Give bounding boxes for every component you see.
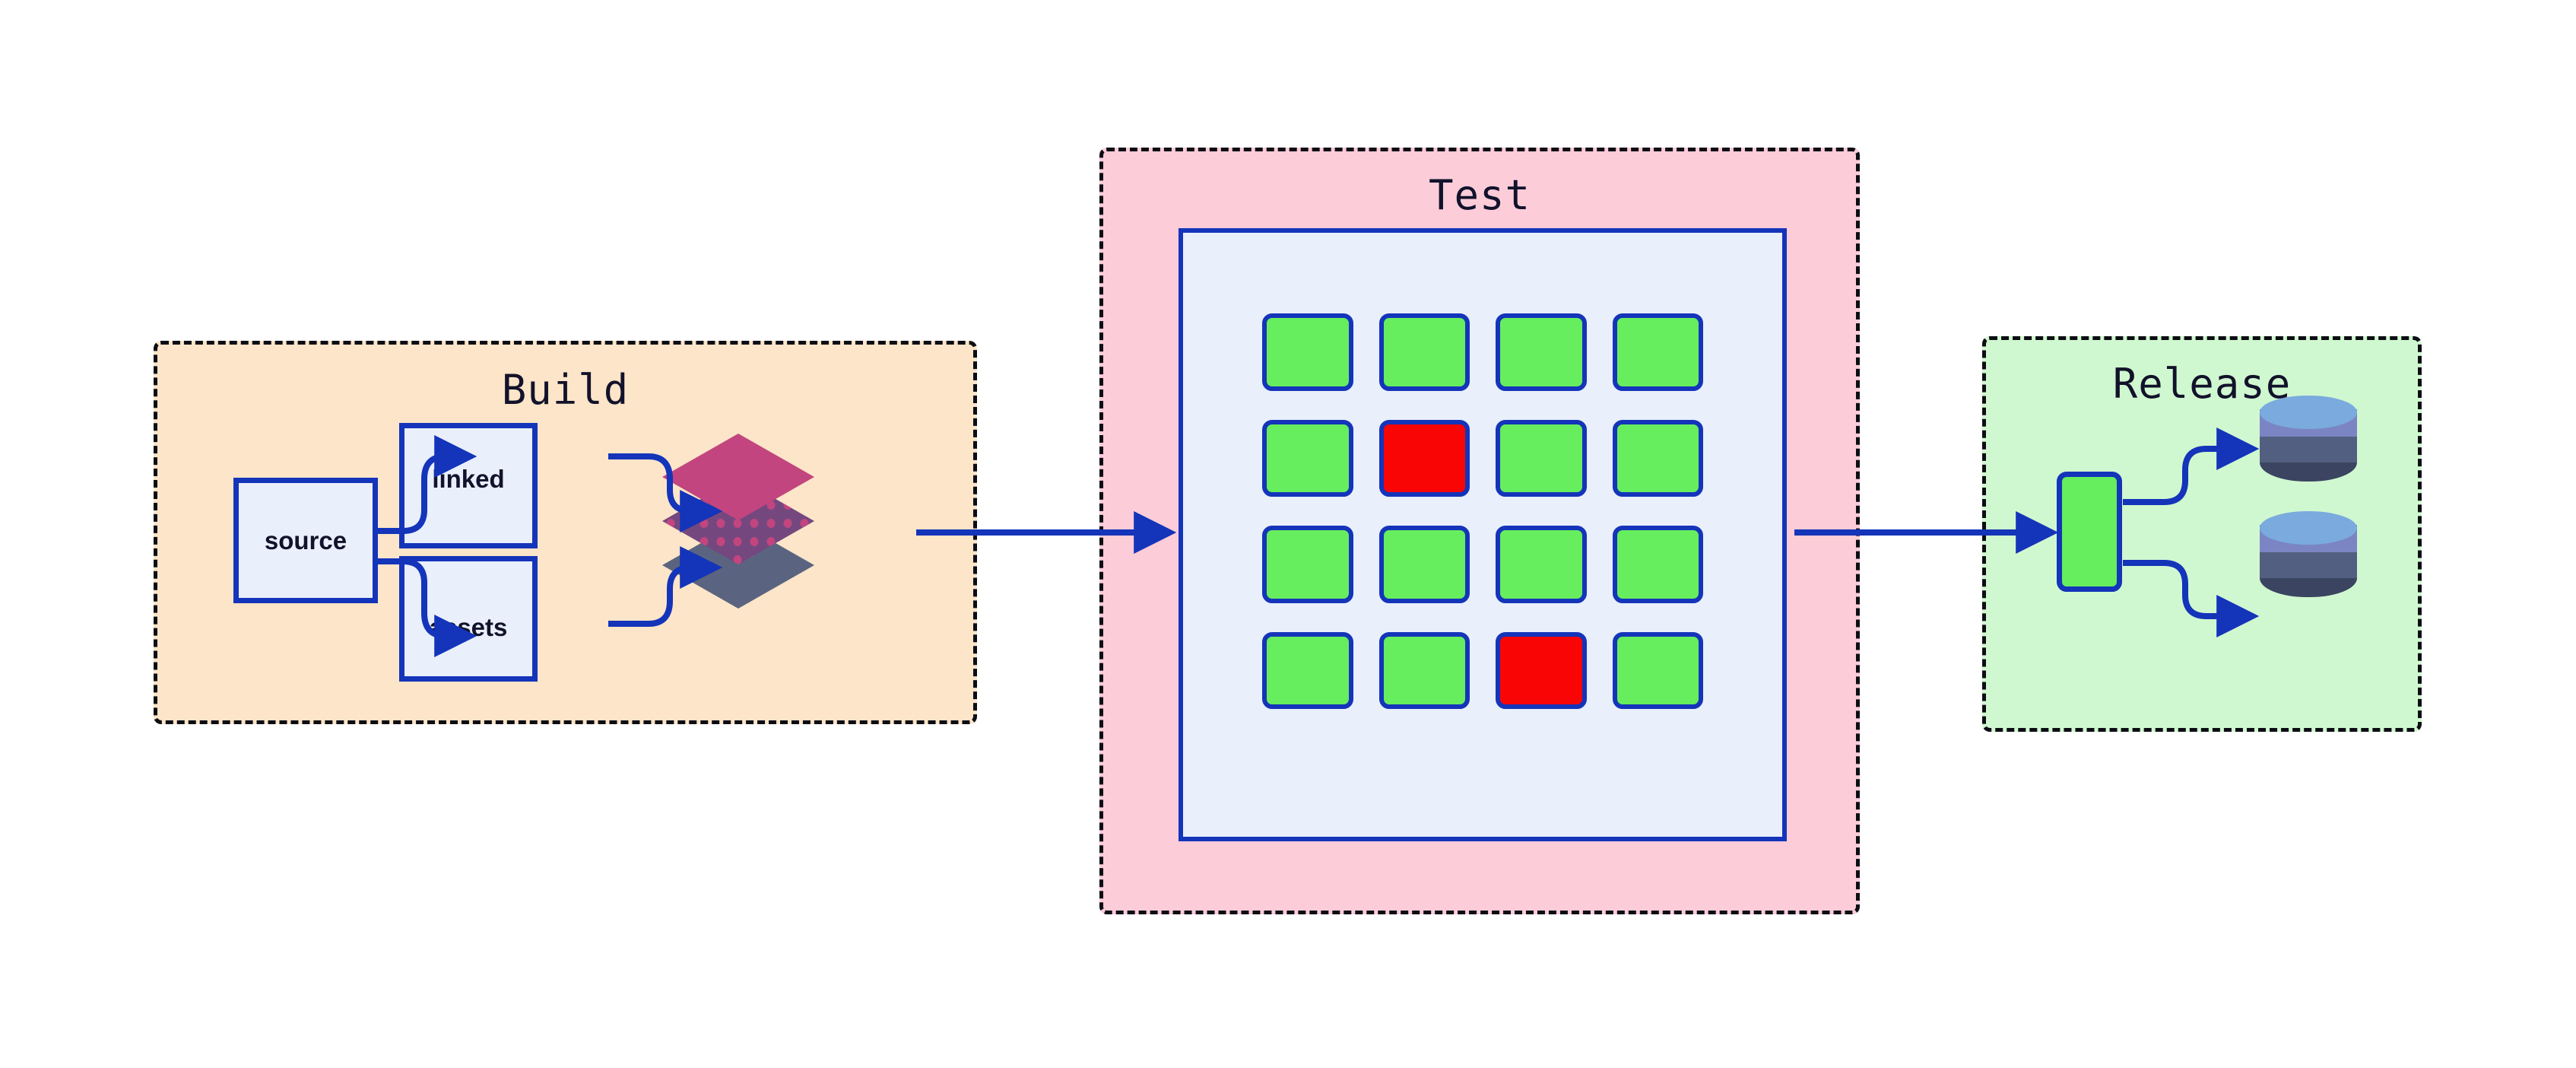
- test-cell-r4-c4[interactable]: [1613, 632, 1704, 710]
- test-cell-r3-c3[interactable]: [1496, 526, 1587, 603]
- test-cell-r2-c2[interactable]: [1379, 420, 1470, 497]
- test-cell-r2-c3[interactable]: [1496, 420, 1587, 497]
- db1-band-bottom: [2260, 462, 2357, 482]
- db2-band-bottom: [2260, 578, 2357, 597]
- test-cell-r3-c2[interactable]: [1379, 526, 1470, 603]
- node-assets[interactable]: assets: [399, 556, 538, 682]
- node-source[interactable]: source: [233, 478, 378, 603]
- test-cell-r2-c4[interactable]: [1613, 420, 1704, 497]
- test-cell-r3-c1[interactable]: [1262, 526, 1353, 603]
- test-cell-r1-c3[interactable]: [1496, 313, 1587, 391]
- stage-group-build: Build source linked assets: [154, 341, 977, 724]
- db1-band-middle: [2260, 437, 2357, 462]
- database-cylinder-icon-2[interactable]: [2260, 511, 2357, 602]
- db2-top-ellipse: [2260, 511, 2357, 545]
- deploy-artifact[interactable]: [2057, 472, 2122, 592]
- test-cell-r1-c1[interactable]: [1262, 313, 1353, 391]
- test-cell-r3-c4[interactable]: [1613, 526, 1704, 603]
- layers-top-layer: [662, 434, 814, 520]
- diagram-canvas: Build source linked assets Test Release: [0, 0, 2576, 1068]
- db2-band-middle: [2260, 552, 2357, 578]
- test-cell-r1-c4[interactable]: [1613, 313, 1704, 391]
- layers-stack-icon: [662, 434, 814, 616]
- test-cell-r1-c2[interactable]: [1379, 313, 1470, 391]
- node-source-label: source: [265, 526, 347, 555]
- node-assets-label: assets: [430, 613, 508, 642]
- stage-title-test: Test: [1103, 171, 1856, 219]
- test-results-grid: [1262, 313, 1703, 709]
- test-cell-r2-c1[interactable]: [1262, 420, 1353, 497]
- node-linked[interactable]: linked: [399, 423, 538, 548]
- stage-title-build: Build: [157, 366, 973, 414]
- node-linked-label: linked: [432, 465, 504, 494]
- database-cylinder-icon-1[interactable]: [2260, 396, 2357, 487]
- test-cell-r4-c1[interactable]: [1262, 632, 1353, 710]
- db1-top-ellipse: [2260, 396, 2357, 429]
- test-cell-r4-c3[interactable]: [1496, 632, 1587, 710]
- test-cell-r4-c2[interactable]: [1379, 632, 1470, 710]
